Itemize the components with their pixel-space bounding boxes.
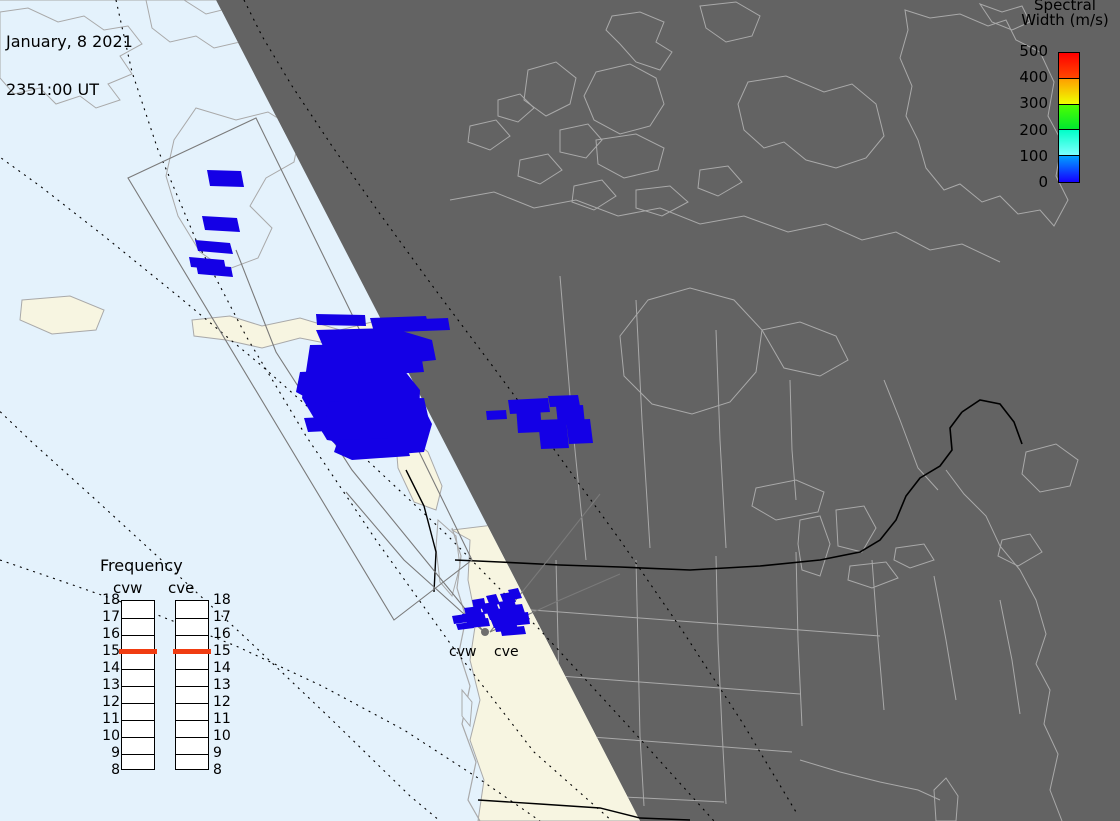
- frequency-tick: [176, 737, 208, 738]
- frequency-marker: [173, 649, 211, 654]
- frequency-scale-box[interactable]: [175, 600, 209, 770]
- frequency-tick-label: 9: [213, 746, 237, 760]
- frequency-tick-label: 18: [213, 593, 237, 607]
- colorbar-title-line2: Width (m/s): [1010, 13, 1120, 28]
- colorbar-segment: [1059, 105, 1079, 131]
- timestamp: January, 8 2021 2351:00 UT: [6, 2, 133, 130]
- frequency-tick-label: 11: [96, 712, 120, 726]
- frequency-tick: [176, 720, 208, 721]
- frequency-tick-label: 17: [213, 610, 237, 624]
- frequency-tick: [122, 754, 154, 755]
- echo-cell: [207, 170, 244, 187]
- echo-cell: [202, 216, 240, 232]
- frequency-tick: [122, 686, 154, 687]
- frequency-tick-label: 12: [213, 695, 237, 709]
- map-canvas[interactable]: [0, 0, 1120, 821]
- colorbar-tick-label: 300: [1019, 96, 1048, 111]
- colorbar-tick-label: 100: [1019, 149, 1048, 164]
- frequency-tick-label: 16: [96, 627, 120, 641]
- echo-cell: [326, 424, 388, 440]
- frequency-tick-label: 15: [213, 644, 237, 658]
- colorbar-tick-label: 500: [1019, 44, 1048, 59]
- frequency-tick-label: 8: [213, 763, 237, 777]
- frequency-marker: [119, 649, 157, 654]
- colorbar-tick-label: 200: [1019, 123, 1048, 138]
- frequency-tick-label: 12: [96, 695, 120, 709]
- colorbar-gradient: [1058, 52, 1080, 183]
- echo-cell: [516, 405, 542, 433]
- frequency-tick: [176, 703, 208, 704]
- frequency-tick: [176, 754, 208, 755]
- frequency-tick-label: 18: [96, 593, 120, 607]
- frequency-tick: [176, 686, 208, 687]
- echo-cell: [566, 419, 593, 444]
- frequency-tick-label: 16: [213, 627, 237, 641]
- colorbar-tick-label: 0: [1038, 175, 1048, 190]
- frequency-tick-label: 17: [96, 610, 120, 624]
- timestamp-date: January, 8 2021: [6, 34, 133, 50]
- site-label-cve: cve: [494, 645, 519, 659]
- frequency-tick: [176, 618, 208, 619]
- colorbar-tick-label: 400: [1019, 70, 1048, 85]
- frequency-column-name: cve: [168, 581, 194, 596]
- frequency-tick: [122, 618, 154, 619]
- echo-cell: [316, 314, 366, 326]
- frequency-tick: [122, 669, 154, 670]
- echo-cell: [486, 410, 507, 420]
- frequency-panel-title: Frequency: [100, 558, 183, 574]
- frequency-tick-label: 10: [213, 729, 237, 743]
- echo-cell: [334, 438, 410, 460]
- colorbar-segment: [1059, 156, 1079, 182]
- frequency-tick-label: 8: [96, 763, 120, 777]
- echo-cell: [356, 348, 424, 376]
- radar-site-dot[interactable]: [481, 628, 489, 636]
- frequency-scale-box[interactable]: [121, 600, 155, 770]
- colorbar: Spectral Width (m/s) 5004003002001000: [1010, 0, 1120, 200]
- colorbar-segment: [1059, 79, 1079, 105]
- colorbar-segment: [1059, 130, 1079, 156]
- echo-cell: [314, 386, 364, 402]
- colorbar-segment: [1059, 53, 1079, 79]
- superdarn-map-view: January, 8 2021 2351:00 UT Spectral Widt…: [0, 0, 1120, 821]
- echo-cell: [538, 419, 569, 449]
- frequency-tick-label: 9: [96, 746, 120, 760]
- frequency-tick-label: 15: [96, 644, 120, 658]
- frequency-tick-label: 10: [96, 729, 120, 743]
- frequency-tick-label: 14: [96, 661, 120, 675]
- site-label-cvw: cvw: [449, 645, 476, 659]
- echo-cell: [548, 395, 580, 407]
- frequency-tick: [176, 635, 208, 636]
- frequency-tick: [122, 720, 154, 721]
- frequency-tick: [122, 635, 154, 636]
- frequency-tick-label: 11: [213, 712, 237, 726]
- timestamp-time: 2351:00 UT: [6, 82, 133, 98]
- frequency-tick: [176, 669, 208, 670]
- frequency-tick-label: 13: [213, 678, 237, 692]
- frequency-tick-label: 14: [213, 661, 237, 675]
- colorbar-title: Spectral Width (m/s): [1010, 0, 1120, 28]
- frequency-tick-label: 13: [96, 678, 120, 692]
- frequency-tick: [122, 703, 154, 704]
- frequency-tick: [122, 737, 154, 738]
- echo-cell: [394, 318, 450, 332]
- echo-cell: [358, 398, 428, 418]
